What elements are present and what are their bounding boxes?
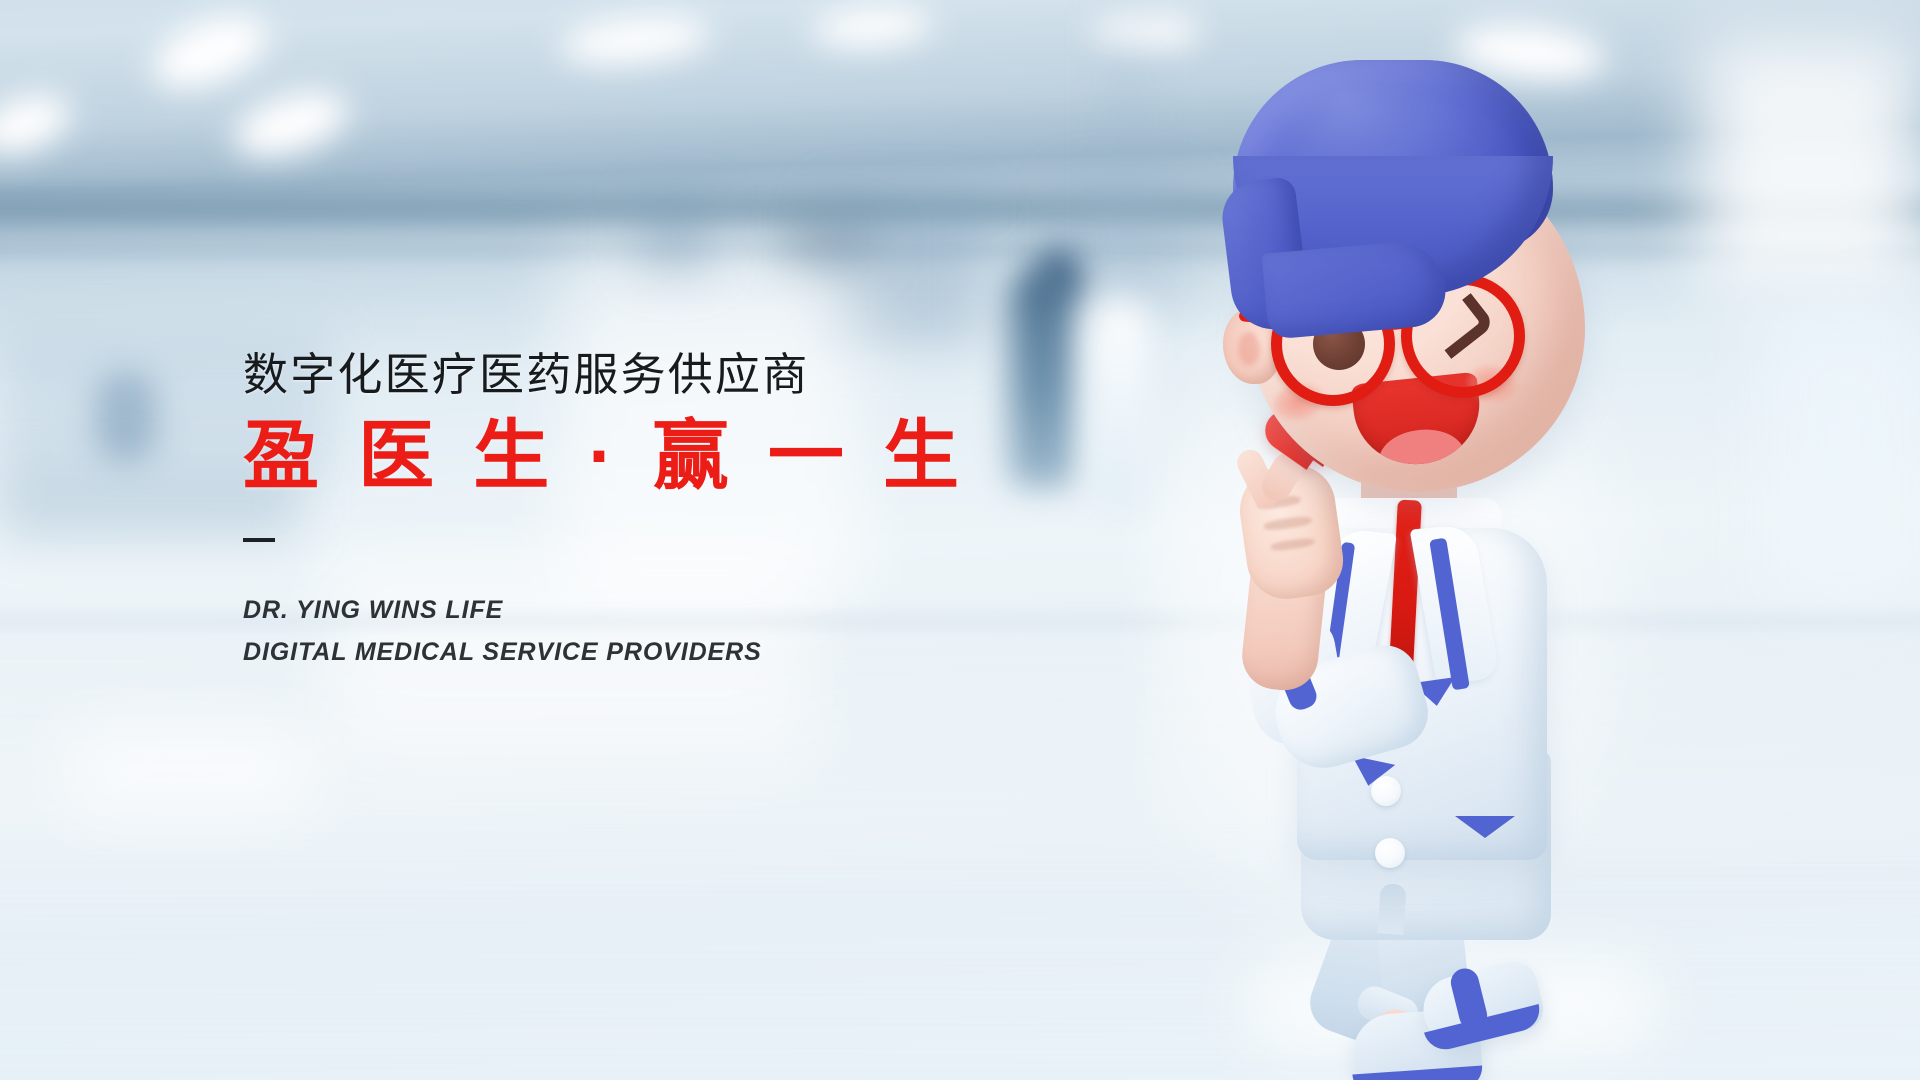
- equipment-blur: [780, 228, 872, 258]
- coat-button: [1375, 838, 1405, 868]
- lab-coat-vent: [1377, 883, 1406, 935]
- background-person-silhouette: [96, 372, 156, 462]
- tagline-line-2: DIGITAL MEDICAL SERVICE PROVIDERS: [243, 632, 963, 673]
- hero-banner: 数字化医疗医药服务供应商 盈 医 生 · 赢 一 生 DR. YING WINS…: [0, 0, 1920, 1080]
- door-frame-blur: [1116, 10, 1138, 300]
- page-title: 盈 医 生 · 赢 一 生: [243, 416, 963, 498]
- window-glow: [1760, 310, 1920, 610]
- ceiling-lamp-icon: [1090, 14, 1200, 48]
- hair-fringe: [1262, 238, 1449, 339]
- tagline-line-1: DR. YING WINS LIFE: [243, 590, 963, 631]
- window-glow: [1700, 40, 1920, 290]
- doctor-mascot-illustration: [1205, 60, 1665, 1060]
- equipment-blur: [640, 200, 710, 270]
- sub-headline: 数字化医疗医药服务供应商: [243, 350, 963, 400]
- background-person-silhouette: [1010, 268, 1074, 488]
- background-person-silhouette: [1036, 248, 1082, 300]
- floor-reflection-spot: [60, 730, 320, 810]
- ear-inner: [1238, 332, 1260, 366]
- background-person-silhouette: [1090, 300, 1150, 510]
- coat-pocket-icon: [1455, 816, 1515, 838]
- hero-copy-block: 数字化医疗医药服务供应商 盈 医 生 · 赢 一 生 DR. YING WINS…: [243, 350, 963, 673]
- tagline-block: DR. YING WINS LIFE DIGITAL MEDICAL SERVI…: [243, 590, 963, 673]
- coat-button: [1371, 776, 1401, 806]
- divider-rule: [243, 538, 275, 542]
